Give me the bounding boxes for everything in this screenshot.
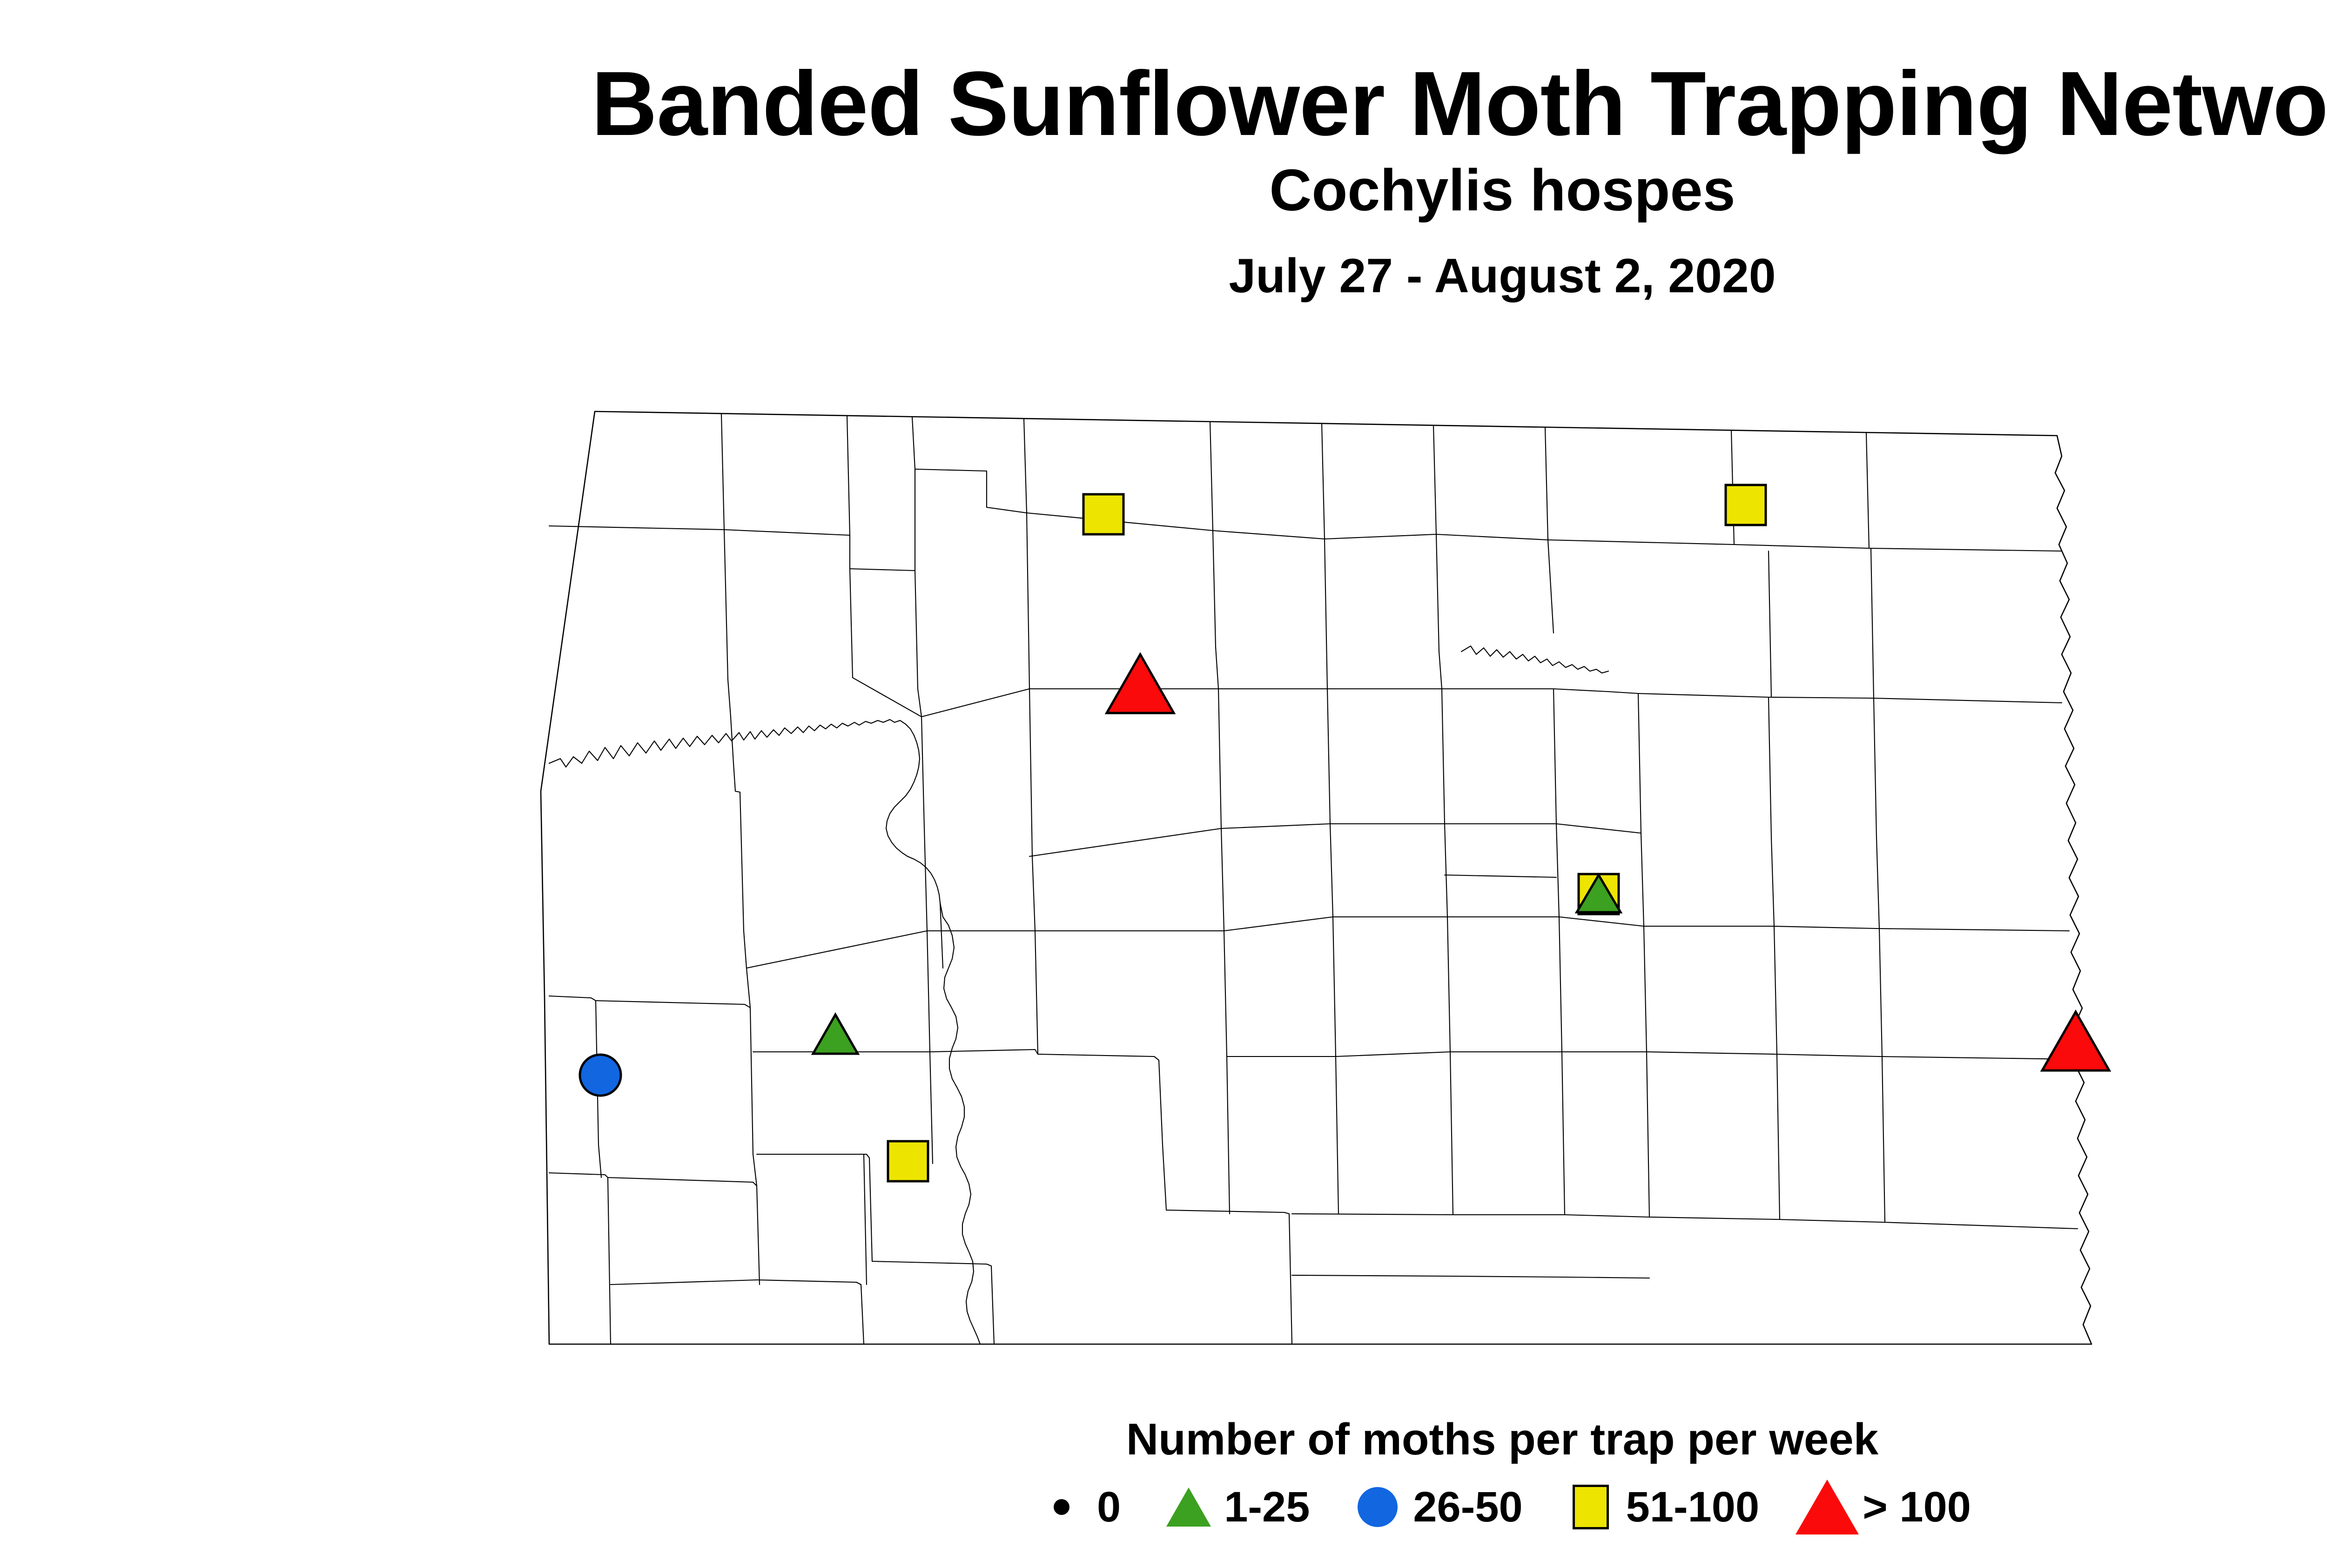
legend-label-51-100: 51-100 <box>1626 1483 1759 1532</box>
legend-item-0[interactable]: 0 <box>1034 1479 1121 1535</box>
dot-icon <box>1034 1479 1090 1535</box>
triangle-red-icon <box>1799 1479 1855 1535</box>
marker-square-ward[interactable] <box>1083 494 1123 534</box>
title-block: Banded Sunflower Moth Trapping Network C… <box>0 56 2327 304</box>
square-yellow-icon <box>1563 1479 1619 1535</box>
date-range-label: July 27 - August 2, 2020 <box>0 249 2327 304</box>
marker-square-cavalier[interactable] <box>1726 485 1766 525</box>
map-page: Banded Sunflower Moth Trapping Network C… <box>0 0 2327 1568</box>
legend-label-1-25: 1-25 <box>1224 1483 1310 1532</box>
page-title: Banded Sunflower Moth Trapping Network <box>0 56 2327 152</box>
triangle-green-icon <box>1161 1479 1217 1535</box>
legend-item-gt-100[interactable]: > 100 <box>1799 1479 1971 1535</box>
legend-label-26-50: 26-50 <box>1413 1483 1522 1532</box>
legend-item-26-50[interactable]: 26-50 <box>1350 1479 1522 1535</box>
species-subtitle: Cochylis hospes <box>0 158 2327 223</box>
marker-square-hettinger[interactable] <box>888 1141 928 1181</box>
north-dakota-county-map[interactable] <box>521 391 2178 1382</box>
state-boundary-outline <box>541 411 2092 1344</box>
legend-label-gt-100: > 100 <box>1863 1483 1971 1532</box>
legend-item-51-100[interactable]: 51-100 <box>1563 1479 1759 1535</box>
legend-label-0: 0 <box>1097 1483 1121 1532</box>
legend-title: Number of moths per trap per week <box>0 1414 2327 1465</box>
legend-item-1-25[interactable]: 1-25 <box>1161 1479 1310 1535</box>
map-svg <box>521 391 2178 1382</box>
legend: 0 1-25 26-50 51-100 > 100 <box>0 1479 2327 1535</box>
marker-circle-goldenvalley[interactable] <box>580 1055 621 1096</box>
circle-blue-icon <box>1350 1479 1406 1535</box>
